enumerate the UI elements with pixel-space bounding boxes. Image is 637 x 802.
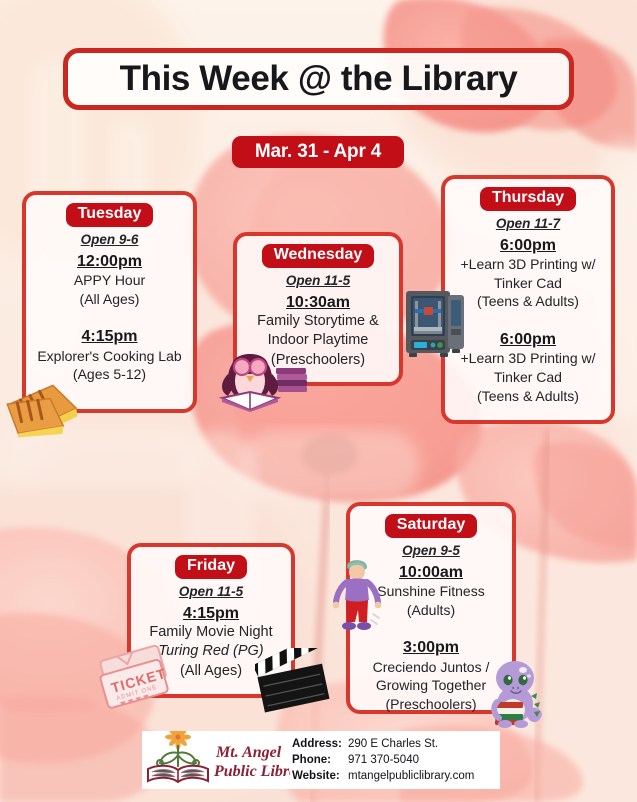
library-logo: Mt. Angel Public Library [142, 731, 290, 789]
contact-label-phone: Phone: [292, 752, 348, 768]
event-spacer [26, 308, 193, 322]
day-badge-saturday: Saturday [385, 514, 477, 538]
contact-label-website: Website: [292, 768, 348, 784]
event-time: 12:00pm [26, 253, 193, 271]
hours-thursday: Open 11-7 [445, 216, 611, 231]
date-range-label: Mar. 31 - Apr 4 [255, 141, 381, 163]
event-detail: +Learn 3D Printing w/ [445, 349, 611, 368]
event-audience: (Teens & Adults) [445, 387, 611, 406]
event-detail: +Learn 3D Printing w/ [445, 255, 611, 274]
event-time: 6:00pm [445, 331, 611, 349]
event-detail: Tinker Cad [445, 368, 611, 387]
contact-row-website: Website: mtangelpubliclibrary.com [292, 768, 500, 784]
clapperboard-icon [255, 648, 331, 714]
contact-value-website[interactable]: mtangelpubliclibrary.com [348, 768, 474, 784]
event-time: 4:15pm [26, 328, 193, 346]
date-range-badge: Mar. 31 - Apr 4 [232, 136, 404, 168]
day-badge-thursday: Thursday [480, 187, 576, 211]
page-title: This Week @ the Library [120, 59, 518, 99]
event-audience: (Preschoolers) [350, 695, 512, 714]
event-detail: Growing Together [350, 676, 512, 695]
event-detail: Family Storytime & [237, 312, 399, 331]
event-audience: (Teens & Adults) [445, 292, 611, 311]
contact-label-address: Address: [292, 736, 348, 752]
day-badge-friday: Friday [175, 555, 247, 579]
movie-tickets-icon: TICKET ADMIT ONE [98, 645, 182, 713]
event-audience: (All Ages) [26, 290, 193, 309]
logo-name-line1: Mt. Angel [215, 744, 282, 761]
contact-row-address: Address: 290 E Charles St. [292, 736, 500, 752]
event-detail: Explorer's Cooking Lab [26, 347, 193, 366]
hours-wednesday: Open 11-5 [237, 273, 399, 288]
contact-details: Address: 290 E Charles St. Phone: 971 37… [290, 736, 500, 785]
event-detail: Creciendo Juntos / [350, 658, 512, 677]
hours-tuesday: Open 9-6 [26, 232, 193, 247]
event-time: 4:15pm [131, 605, 291, 623]
grilled-cheese-sandwich-icon [4, 368, 96, 440]
penguin-reading-book-icon [210, 340, 310, 412]
3d-printer-icon [404, 287, 466, 361]
event-detail: APPY Hour [26, 271, 193, 290]
contact-value-address: 290 E Charles St. [348, 736, 438, 752]
library-contact-footer: Mt. Angel Public Library Address: 290 E … [142, 731, 500, 789]
event-spacer [445, 311, 611, 325]
day-card-thursday: Thursday Open 11-7 6:00pm +Learn 3D Prin… [441, 175, 615, 424]
senior-exercising-icon [333, 556, 385, 642]
event-detail: Tinker Cad [445, 274, 611, 293]
library-events-flyer: This Week @ the Library Mar. 31 - Apr 4 … [0, 0, 637, 802]
event-detail: Family Movie Night [131, 623, 291, 642]
day-badge-tuesday: Tuesday [66, 203, 154, 227]
hours-friday: Open 11-5 [131, 584, 291, 599]
event-time: 10:30am [237, 294, 399, 312]
event-time: 6:00pm [445, 237, 611, 255]
contact-value-phone: 971 370-5040 [348, 752, 419, 768]
dinosaur-with-books-icon [489, 652, 547, 730]
event-time: 3:00pm [350, 639, 512, 657]
flyer-title-card: This Week @ the Library [63, 48, 574, 110]
day-badge-wednesday: Wednesday [262, 244, 375, 268]
logo-name-line2: Public Library [213, 763, 290, 780]
contact-row-phone: Phone: 971 370-5040 [292, 752, 500, 768]
